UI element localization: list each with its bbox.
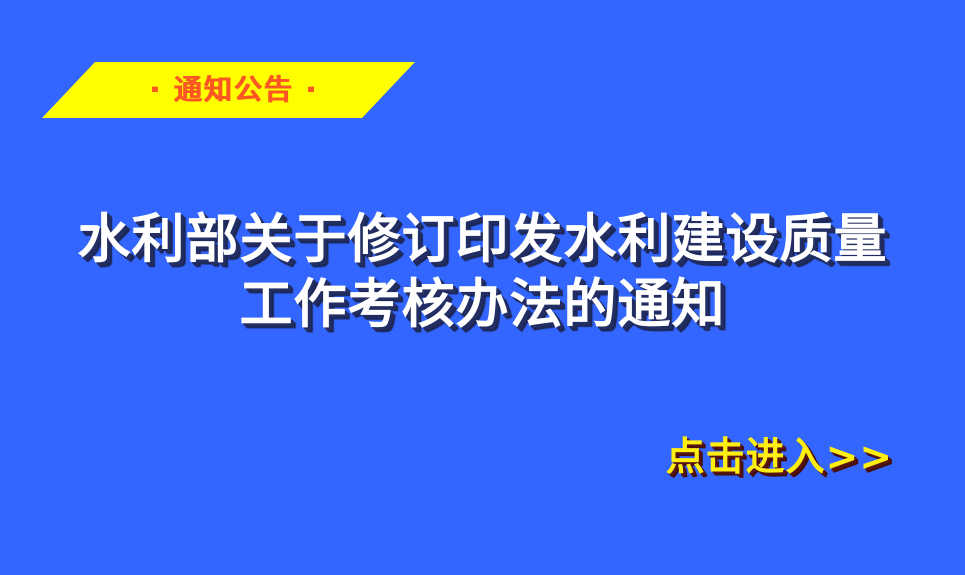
- page-title-line-1: 水利部关于修订印发水利建设质量: [0, 208, 965, 273]
- notice-ribbon-banner: · 通知公告 ·: [42, 62, 415, 118]
- ribbon-label: · 通知公告 ·: [42, 62, 415, 118]
- page-title-line-2: 工作考核办法的通知: [0, 273, 965, 338]
- announcement-poster: · 通知公告 · 水利部关于修订印发水利建设质量 工作考核办法的通知 点击进入>…: [0, 0, 965, 575]
- page-title: 水利部关于修订印发水利建设质量 工作考核办法的通知: [0, 208, 965, 337]
- enter-link[interactable]: 点击进入>>: [666, 436, 893, 481]
